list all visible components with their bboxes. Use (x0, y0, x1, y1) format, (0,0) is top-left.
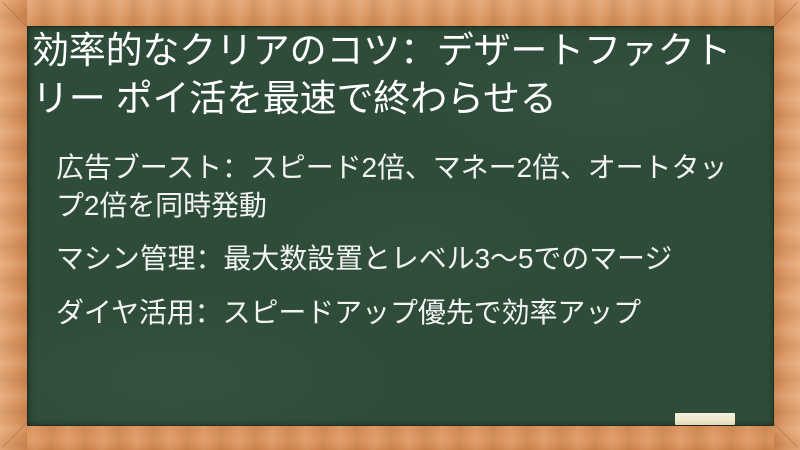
list-item: マシン管理：最大数設置とレベル3～5でのマージ (56, 240, 748, 278)
wood-frame-bottom (0, 426, 800, 450)
chalkboard-frame: 効率的なクリアのコツ：デザートファクトリー ポイ活を最速で終わらせる 広告ブース… (0, 0, 800, 450)
board-title: 効率的なクリアのコツ：デザートファクトリー ポイ活を最速で終わらせる (32, 27, 747, 123)
chalk-stick-icon (675, 413, 735, 425)
wood-frame-right (774, 0, 800, 450)
wood-frame-left (0, 0, 27, 450)
list-item: ダイヤ活用：スピードアップ優先で効率アップ (56, 294, 748, 332)
wood-frame-top (0, 0, 800, 27)
tips-list: 広告ブースト：スピード2倍、マネー2倍、オートタップ2倍を同時発動 マシン管理：… (56, 149, 748, 331)
chalkboard-surface: 効率的なクリアのコツ：デザートファクトリー ポイ活を最速で終わらせる 広告ブース… (27, 26, 774, 426)
list-item: 広告ブースト：スピード2倍、マネー2倍、オートタップ2倍を同時発動 (56, 149, 748, 224)
